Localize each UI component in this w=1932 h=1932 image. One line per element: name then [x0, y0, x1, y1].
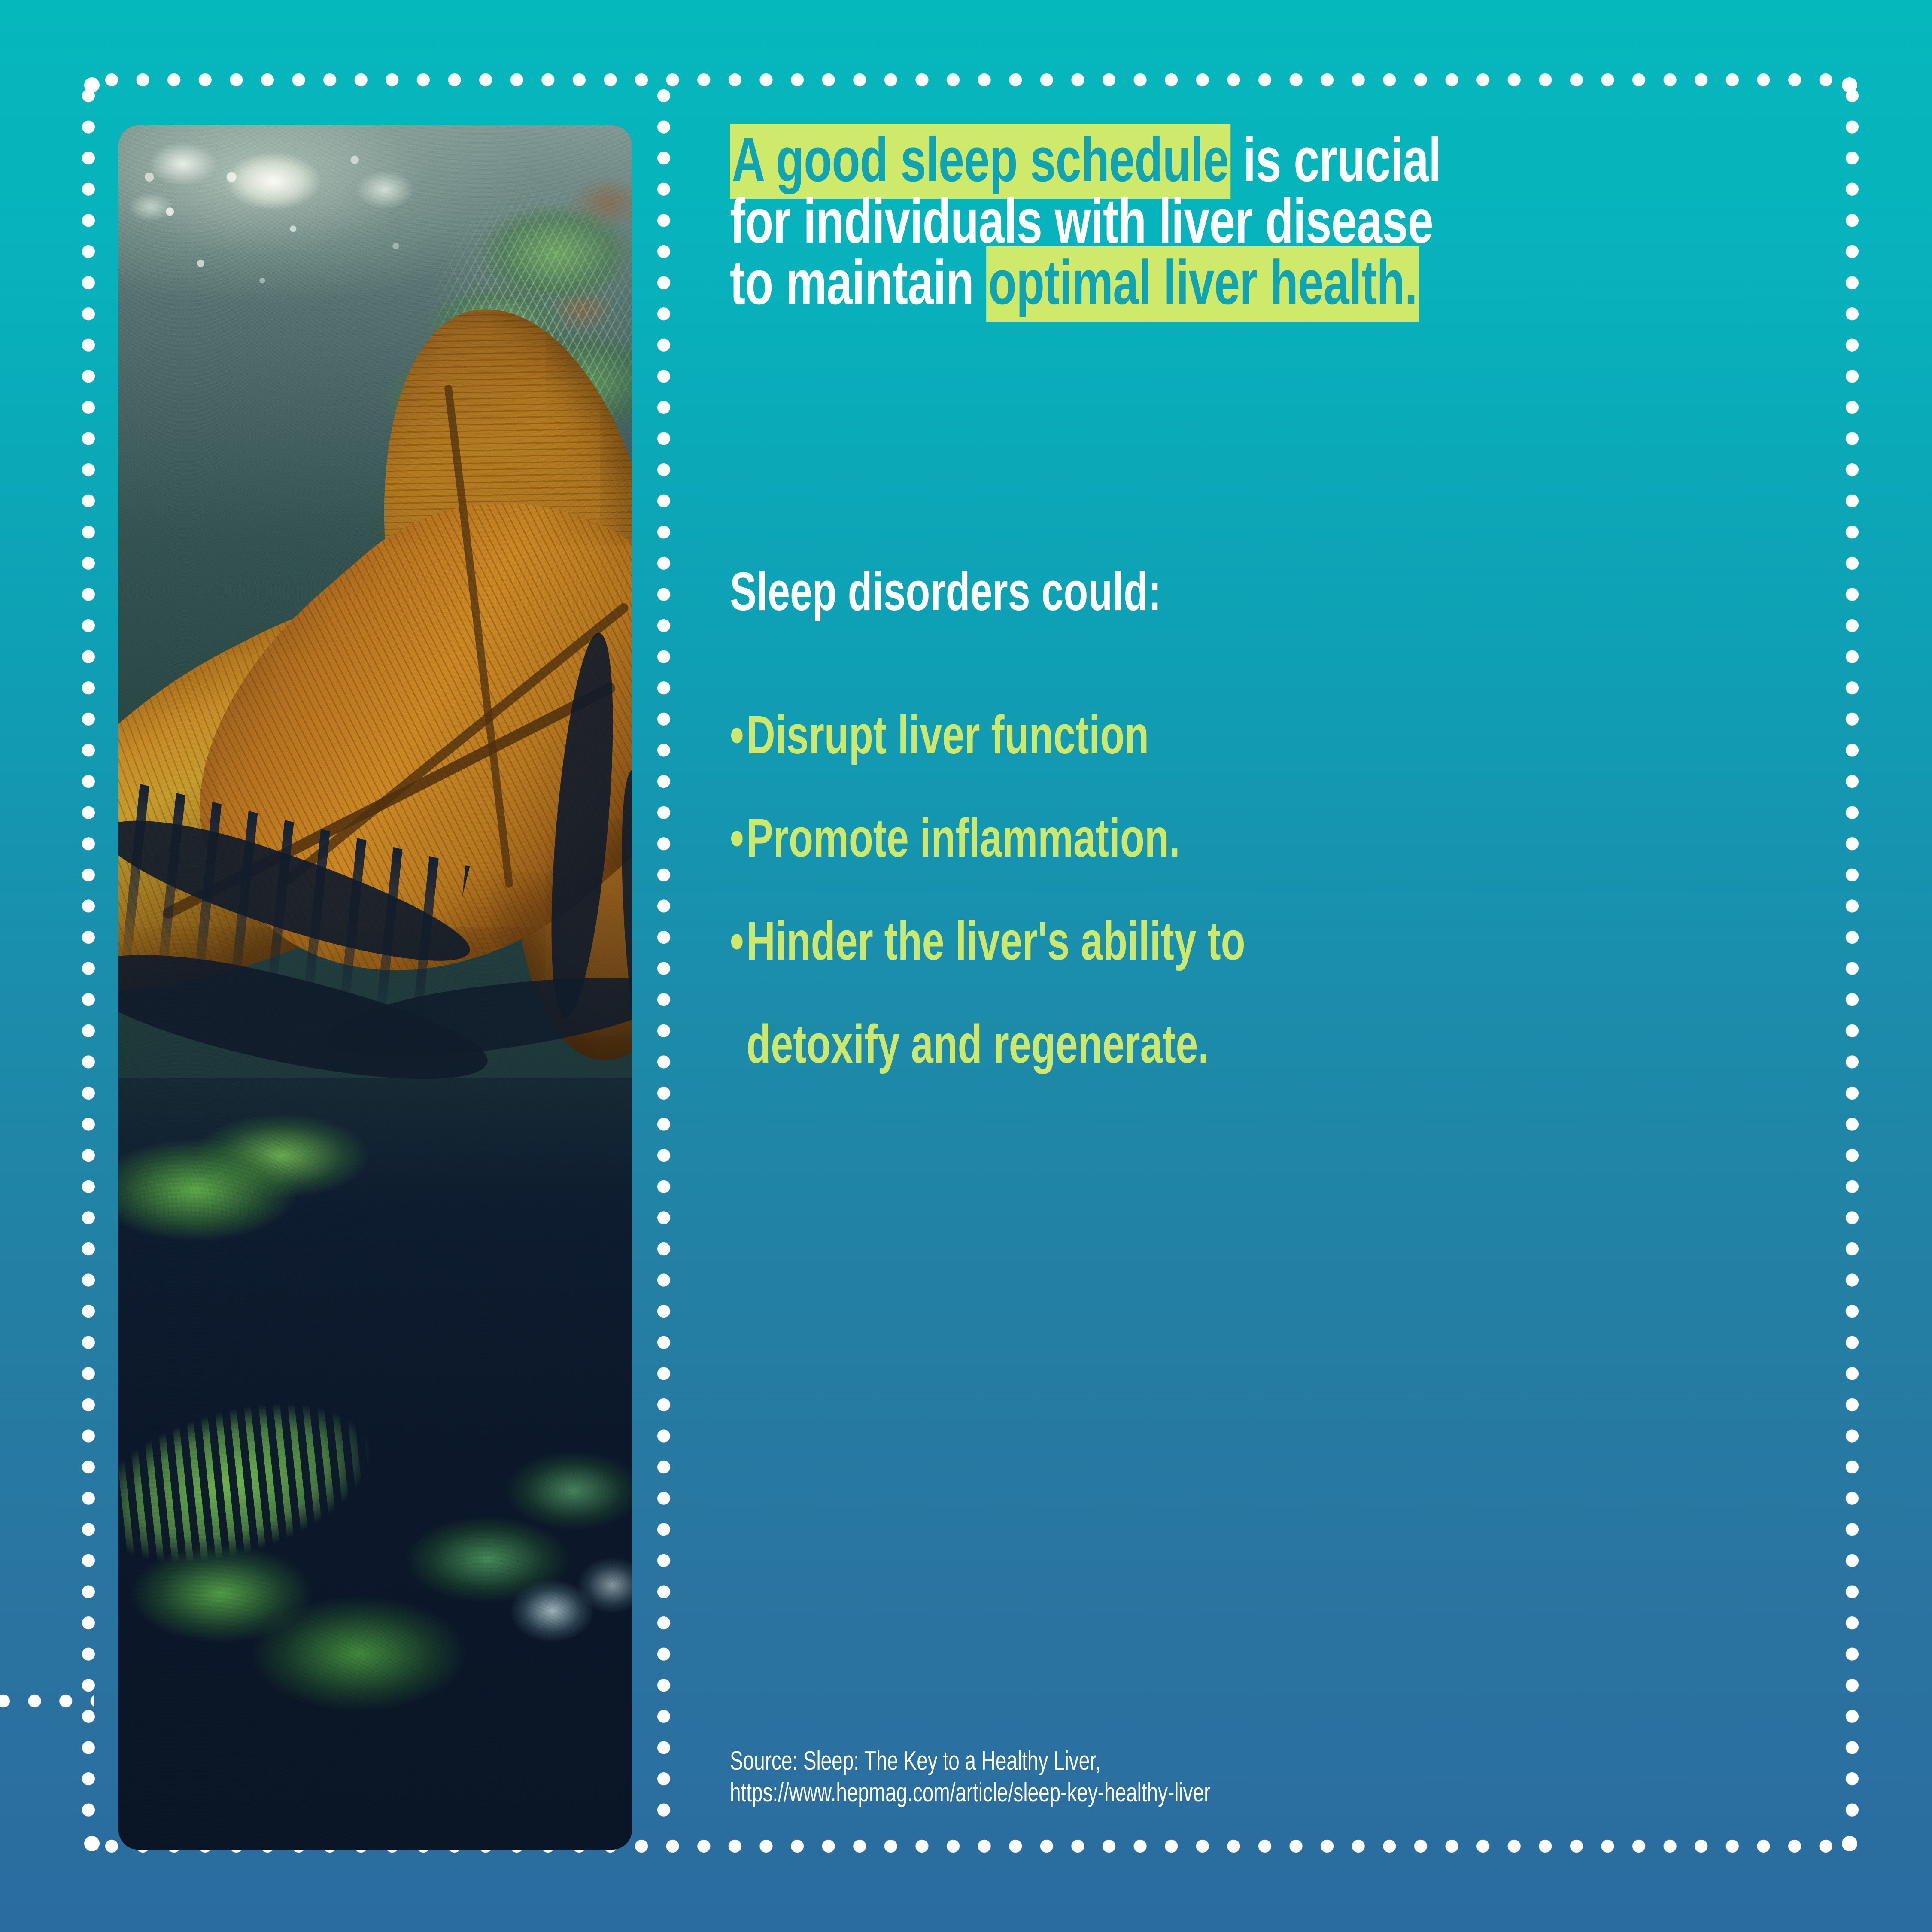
- bullet-dot-icon: •: [730, 683, 746, 787]
- headline-highlight-2: optimal liver health.: [986, 246, 1419, 322]
- corner-dot-br: [1842, 1836, 1857, 1851]
- list-item-text: Disrupt liver function: [746, 705, 1149, 765]
- border-dots-left-notch: [0, 1693, 94, 1709]
- list-item: •Hinder the liver's ability to: [730, 890, 1810, 993]
- headline-line2: for individuals with liver disease: [730, 190, 1810, 252]
- divider-dots-vertical: [656, 88, 671, 1823]
- corner-dot-tl: [84, 77, 100, 93]
- tropical-foliage-photo: [118, 125, 632, 1850]
- infographic-card: A good sleep schedule is crucial for ind…: [0, 0, 1932, 1932]
- list-item-text: Hinder the liver's ability to: [746, 911, 1245, 971]
- headline-line3-lead: to maintain: [730, 247, 986, 317]
- bullet-list: •Disrupt liver function •Promote inflamm…: [730, 683, 1932, 1096]
- bullet-dot-icon: •: [730, 890, 746, 993]
- corner-dot-tr: [1842, 77, 1857, 93]
- list-item: •Promote inflammation.: [730, 787, 1810, 890]
- subheading: Sleep disorders could:: [730, 563, 1313, 620]
- border-dots-left: [81, 88, 96, 1823]
- list-item-text: Promote inflammation.: [746, 808, 1180, 868]
- bullet-dot-icon: •: [730, 787, 746, 890]
- list-item: •Disrupt liver function: [730, 683, 1810, 787]
- source-citation: Source: Sleep: The Key to a Healthy Live…: [730, 1745, 1379, 1809]
- source-title: Source: Sleep: The Key to a Healthy Live…: [730, 1745, 1210, 1777]
- headline-line1-rest: is crucial: [1230, 125, 1441, 194]
- list-item-continuation: detoxify and regenerate.: [730, 993, 1810, 1096]
- corner-dot-bl: [84, 1836, 100, 1851]
- headline: A good sleep schedule is crucial for ind…: [730, 129, 1932, 313]
- source-url[interactable]: https://www.hepmag.com/article/sleep-key…: [730, 1777, 1210, 1809]
- subheading-text: Sleep disorders could:: [730, 563, 1161, 620]
